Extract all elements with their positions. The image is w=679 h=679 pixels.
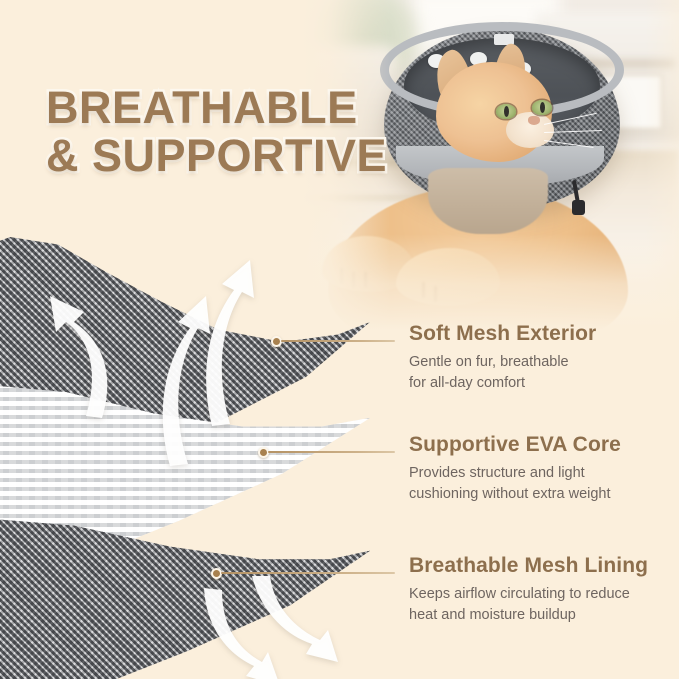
feature-description: Keeps airflow circulating to reduce heat… bbox=[409, 584, 648, 625]
callout-line bbox=[268, 451, 395, 453]
cat-nose bbox=[528, 116, 540, 125]
airflow-arrow-up-3 bbox=[186, 258, 266, 428]
feature-description: Gentle on fur, breathable for all-day co… bbox=[409, 352, 596, 393]
cat-pupil bbox=[504, 106, 509, 117]
feature-title: Breathable Mesh Lining bbox=[409, 554, 648, 578]
callout-text-block: Breathable Mesh Lining Keeps airflow cir… bbox=[409, 554, 648, 625]
cone-neck-sleeve bbox=[428, 168, 548, 234]
feature-description: Provides structure and light cushioning … bbox=[409, 463, 621, 504]
callout-line bbox=[281, 340, 395, 342]
callout-text-block: Supportive EVA Core Provides structure a… bbox=[409, 433, 621, 504]
airflow-arrow-down-2 bbox=[248, 574, 340, 670]
cat-eye-right bbox=[532, 100, 552, 115]
product-infographic: BREATHABLE & SUPPORTIVE Soft Mesh Exteri… bbox=[0, 0, 679, 679]
headline-line-1: BREATHABLE bbox=[46, 84, 387, 132]
callout-text-block: Soft Mesh Exterior Gentle on fur, breath… bbox=[409, 322, 596, 393]
cat-eye-left bbox=[496, 104, 516, 119]
photo-fade-right bbox=[645, 0, 679, 330]
airflow-arrow-up-1 bbox=[44, 270, 134, 420]
feature-title: Supportive EVA Core bbox=[409, 433, 621, 457]
cat-pupil bbox=[540, 102, 545, 113]
cone-cord-toggle bbox=[572, 200, 585, 215]
callout-line bbox=[221, 572, 395, 574]
feature-title: Soft Mesh Exterior bbox=[409, 322, 596, 346]
page-title: BREATHABLE & SUPPORTIVE bbox=[46, 84, 387, 179]
headline-line-2: & SUPPORTIVE bbox=[46, 132, 387, 180]
